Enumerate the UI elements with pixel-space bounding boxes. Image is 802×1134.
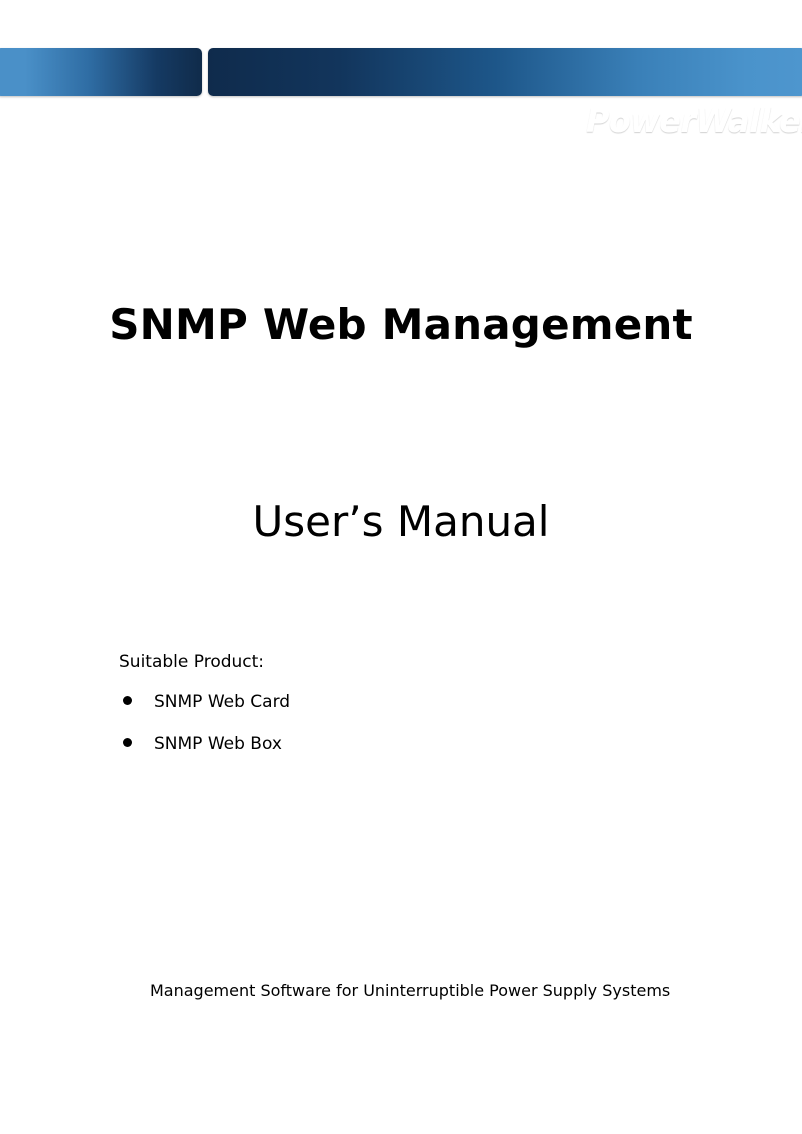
footer-caption: Management Software for Uninterruptible … xyxy=(150,981,670,1000)
suitable-products-section: Suitable Product: SNMP Web Card SNMP Web… xyxy=(119,652,619,775)
bullet-icon xyxy=(123,738,132,747)
accent-bar-right xyxy=(208,48,802,96)
bullet-icon xyxy=(123,696,132,705)
list-item-label: SNMP Web Card xyxy=(154,692,290,712)
header-banner: PowerWalker xyxy=(0,48,802,96)
list-item-label: SNMP Web Box xyxy=(154,734,282,754)
suitable-products-heading: Suitable Product: xyxy=(119,652,619,672)
accent-bar-left xyxy=(0,48,202,96)
brand-logo-text: PowerWalker xyxy=(586,104,802,137)
brand-logo: PowerWalker xyxy=(536,98,802,142)
page-subtitle: User’s Manual xyxy=(0,497,802,547)
page-title: SNMP Web Management xyxy=(0,300,802,350)
list-item: SNMP Web Card xyxy=(119,692,619,712)
suitable-products-list: SNMP Web Card SNMP Web Box xyxy=(119,692,619,754)
powerwalker-emblem-icon xyxy=(536,99,580,141)
list-item: SNMP Web Box xyxy=(119,734,619,754)
